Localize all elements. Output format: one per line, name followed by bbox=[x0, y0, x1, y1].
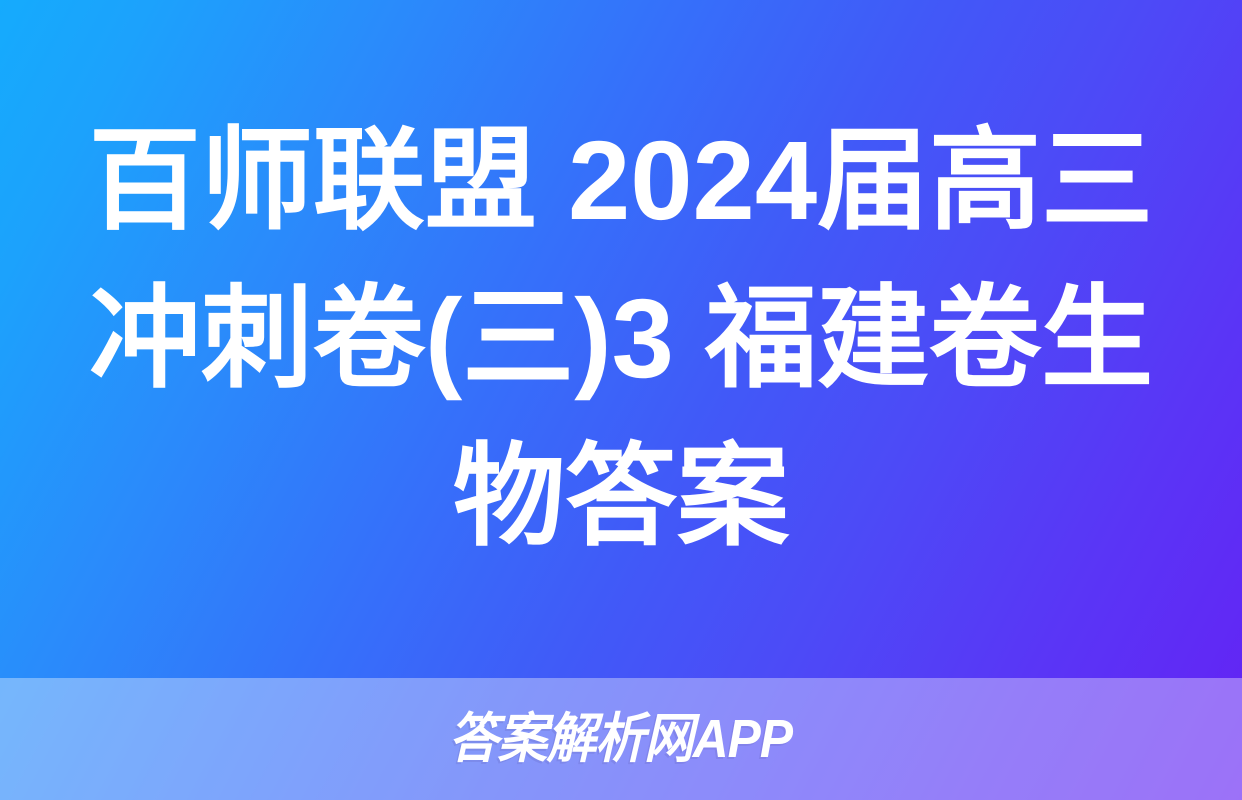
watermark-brand-label: 答案解析网APP bbox=[449, 712, 792, 766]
page-title: 百师联盟 2024届高三冲刺卷(三)3 福建卷生物答案 bbox=[76, 102, 1166, 576]
promo-card: 百师联盟 2024届高三冲刺卷(三)3 福建卷生物答案 答案解析网APP bbox=[0, 0, 1242, 800]
title-block: 百师联盟 2024届高三冲刺卷(三)3 福建卷生物答案 bbox=[0, 0, 1242, 678]
watermark-band: 答案解析网APP bbox=[0, 678, 1242, 800]
